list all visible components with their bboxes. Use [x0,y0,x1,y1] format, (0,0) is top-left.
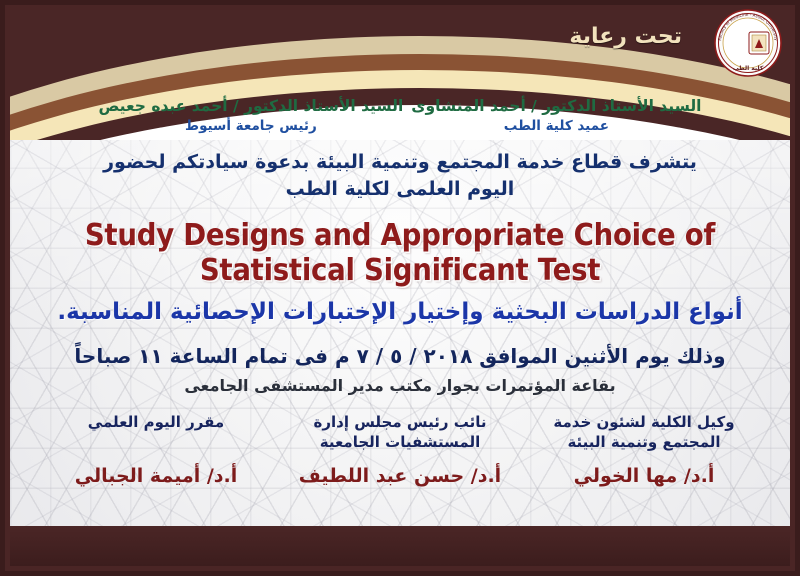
invitation-text: يتشرف قطاع خدمة المجتمع وتنمية البيئة بد… [10,149,790,204]
faculty-seal-logo: Faculty of Medicine - Assiut University … [711,8,785,80]
svg-text:كلية الطب: كلية الطب [733,65,764,72]
event-venue: بقاعة المؤتمرات بجوار مكتب مدير المستشفى… [10,376,790,395]
poster: تحت رعاية Faculty of Medicine - Assiut U… [0,0,800,576]
official-name: السيد الأستاذ الدكتور / أحمد عبده جعيص [99,97,404,116]
seal-icon: Faculty of Medicine - Assiut University … [711,8,785,80]
signatory-role: وكيل الكلية لشئون خدمة المجتمع وتنمية ال… [532,413,756,455]
poster-footer-band [10,526,790,566]
official-entry: السيد الأستاذ الدكتور / أحمد عبده جعيص ر… [99,97,404,135]
official-role: رئيس جامعة أسيوط [99,118,404,134]
signatory-name: أ.د/ مها الخولي [532,465,756,487]
signatory-block: نائب رئيس مجلس إدارة المستشفيات الجامعية… [288,413,512,487]
english-title-line-1: Study Designs and Appropriate Choice of [41,218,759,253]
patronage-label: تحت رعاية [569,24,682,49]
english-title: Study Designs and Appropriate Choice of … [41,218,759,289]
official-name: السيد الأستاذ الدكتور / أحمد المنشاوى [411,97,701,116]
signatory-name: أ.د/ حسن عبد اللطيف [288,465,512,487]
invitation-line-2: اليوم العلمى لكلية الطب [10,176,790,204]
official-role: عميد كلية الطب [411,118,701,134]
poster-content: السيد الأستاذ الدكتور / أحمد عبده جعيص ر… [10,91,790,529]
official-entry: السيد الأستاذ الدكتور / أحمد المنشاوى عم… [411,97,701,135]
officials-row: السيد الأستاذ الدكتور / أحمد عبده جعيص ر… [10,97,790,135]
signatory-block: مقرر اليوم العلمي أ.د/ أميمة الجبالي [44,413,268,487]
event-datetime: وذلك يوم الأثنين الموافق ٢٠١٨ / ٥ / ٧ م … [10,342,790,370]
english-title-line-2: Statistical Significant Test [41,253,759,288]
signatory-role: مقرر اليوم العلمي [44,413,268,455]
signatory-role: نائب رئيس مجلس إدارة المستشفيات الجامعية [288,413,512,455]
invitation-line-1: يتشرف قطاع خدمة المجتمع وتنمية البيئة بد… [10,149,790,177]
signatories-row: مقرر اليوم العلمي أ.د/ أميمة الجبالي نائ… [10,413,790,487]
arabic-title: أنواع الدراسات البحثية وإختيار الإختبارا… [10,298,790,328]
signatory-name: أ.د/ أميمة الجبالي [44,465,268,487]
signatory-block: وكيل الكلية لشئون خدمة المجتمع وتنمية ال… [532,413,756,487]
